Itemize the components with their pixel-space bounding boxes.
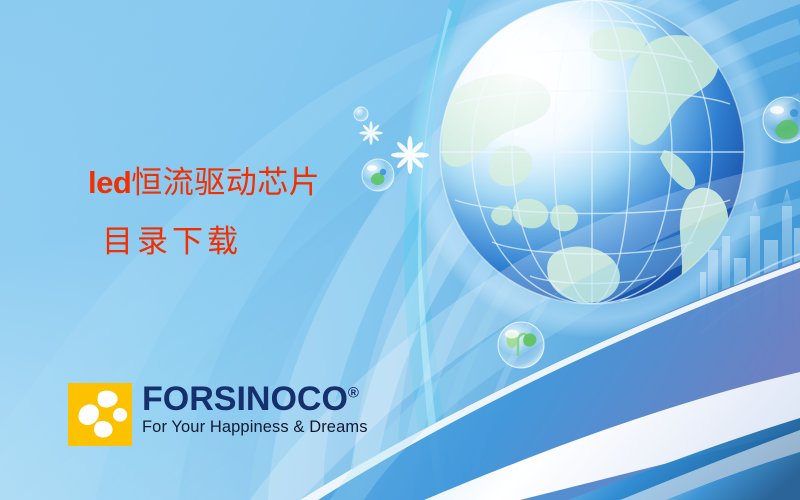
logo-text-block: FORSINOCO® For Your Happiness & Dreams: [142, 383, 368, 436]
pinwheel-icon: [68, 383, 132, 446]
bubble-icon: [362, 159, 394, 191]
bubble-icon: [354, 107, 368, 121]
promo-banner: led恒流驱动芯片 目录下载 FORSINOCO® For Your Happi…: [0, 0, 800, 500]
logo-wordmark-text: FORSINOCO: [142, 380, 348, 418]
registered-trademark-icon: ®: [348, 385, 359, 402]
logo-tagline: For Your Happiness & Dreams: [142, 418, 368, 436]
bubble-icon: [498, 322, 544, 368]
brand-logo: FORSINOCO® For Your Happiness & Dreams: [68, 383, 368, 446]
logo-wordmark: FORSINOCO®: [142, 383, 368, 416]
